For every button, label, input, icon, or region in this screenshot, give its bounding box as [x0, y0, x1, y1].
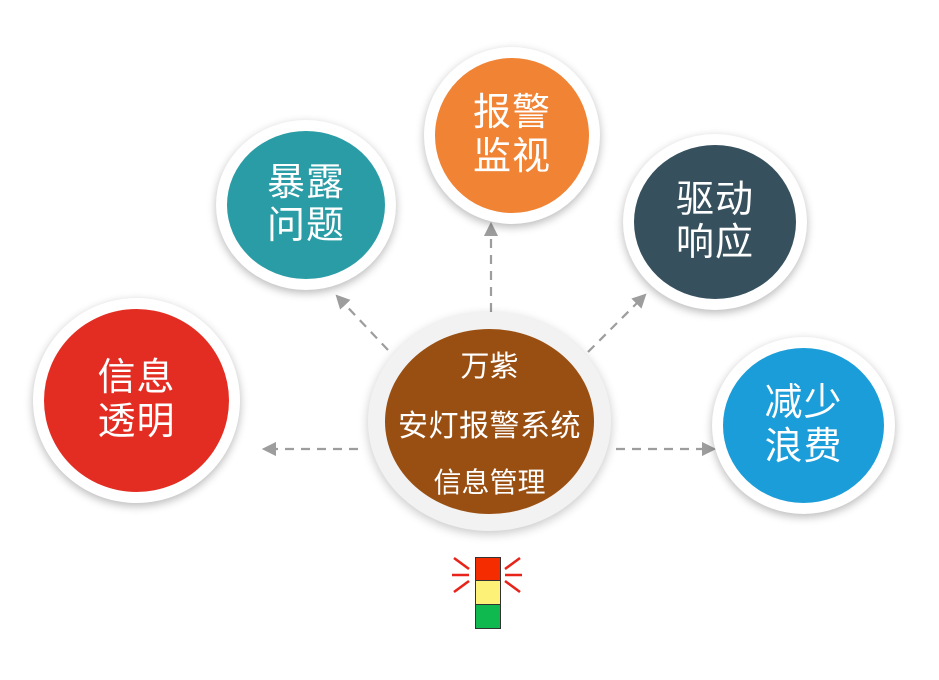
node-alarm-monitoring-line-1: 报警 [473, 92, 551, 135]
node-reduce-waste-line-2: 浪费 [764, 426, 842, 469]
node-alarm-monitoring-line-2: 监视 [473, 136, 551, 179]
node-reduce-waste-disc: 减少 浪费 [723, 348, 884, 503]
node-drive-response[interactable]: 驱动 响应 [623, 134, 807, 310]
node-reduce-waste[interactable]: 减少 浪费 [712, 337, 895, 514]
node-information-transparency-disc: 信息 透明 [44, 309, 229, 492]
node-expose-problems-disc: 暴露 问题 [227, 131, 385, 279]
node-drive-response-disc: 驱动 响应 [634, 145, 796, 299]
node-alarm-monitoring-disc: 报警 监视 [435, 58, 589, 213]
node-drive-response-line-2: 响应 [676, 222, 754, 265]
node-drive-response-line-1: 驱动 [676, 179, 754, 222]
node-information-transparency[interactable]: 信息 透明 [33, 298, 240, 503]
andon-yellow-lamp [475, 580, 501, 605]
andon-green-lamp [475, 604, 501, 629]
hub-line-2: 安灯报警系统 [398, 401, 581, 445]
andon-lamp-stack [475, 558, 501, 629]
connector-up-left [337, 296, 388, 350]
andon-light-tower [452, 548, 522, 644]
node-information-transparency-line-1: 信息 [97, 357, 175, 400]
node-andon-system-hub[interactable]: 万紫 安灯报警系统 信息管理 [368, 312, 611, 531]
node-reduce-waste-line-1: 减少 [764, 382, 842, 425]
node-andon-system-hub-disc: 万紫 安灯报警系统 信息管理 [385, 329, 594, 514]
node-alarm-monitoring[interactable]: 报警 监视 [424, 47, 600, 224]
connector-up-right [588, 295, 645, 352]
hub-line-3: 信息管理 [433, 461, 545, 501]
hub-line-1: 万紫 [460, 343, 518, 385]
node-expose-problems-line-2: 问题 [267, 205, 345, 248]
diagram-canvas: 暴露 问题 报警 监视 驱动 响应 信息 透明 减少 浪费 万紫 安 [0, 0, 939, 680]
node-expose-problems-line-1: 暴露 [267, 162, 345, 205]
node-expose-problems[interactable]: 暴露 问题 [216, 120, 396, 290]
andon-red-lamp [475, 557, 501, 582]
node-information-transparency-line-2: 透明 [97, 401, 175, 444]
